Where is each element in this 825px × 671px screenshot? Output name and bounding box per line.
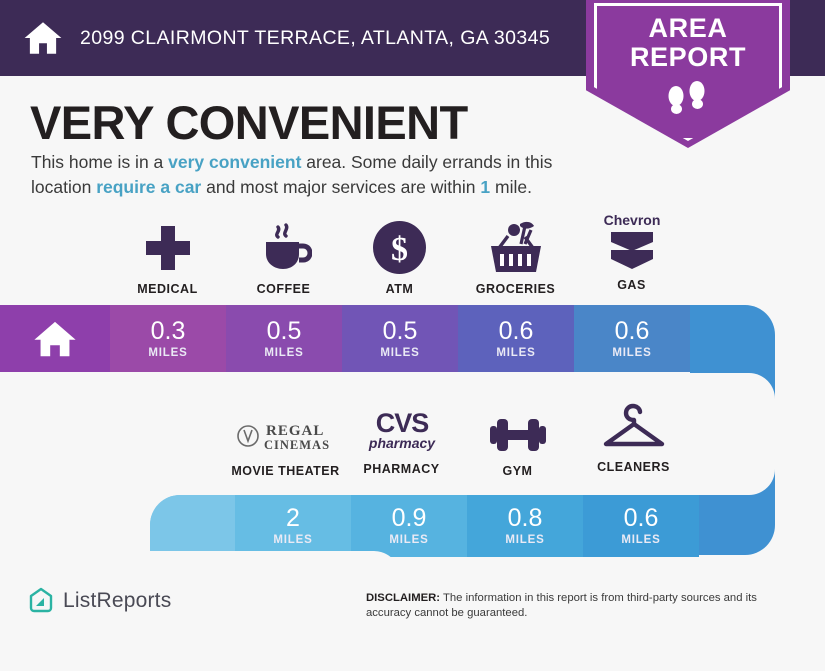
regal-cinemas-logo-icon: REGAL CINEMAS [228, 400, 343, 456]
intro-text-4: mile. [490, 177, 532, 197]
svg-text:CINEMAS: CINEMAS [264, 438, 330, 452]
distance-unit: MILES [621, 534, 660, 546]
infographic-root: 2099 CLAIRMONT TERRACE, ATLANTA, GA 3034… [0, 0, 825, 637]
home-icon [22, 17, 64, 59]
intro-highlight-3: 1 [480, 177, 490, 197]
distance-cell-coffee: 0.5 MILES [226, 305, 342, 372]
area-report-badge: AREA REPORT [586, 0, 790, 148]
distance-value: 0.5 [267, 319, 302, 344]
amenity-label: PHARMACY [344, 462, 459, 476]
amenity-label: GYM [460, 464, 575, 478]
distance-value: 0.8 [508, 506, 543, 531]
amenity-coffee: COFFEE [226, 218, 341, 296]
distance-value: 0.6 [615, 319, 650, 344]
hanger-icon [576, 396, 691, 452]
intro-highlight-1: very convenient [168, 152, 301, 172]
ribbon-left-cap [150, 495, 235, 557]
amenity-label: GAS [574, 278, 689, 292]
home-icon [33, 319, 77, 359]
badge-line-1: AREA [586, 14, 790, 43]
distance-unit: MILES [264, 347, 303, 359]
distance-cell-cleaners: 0.6 MILES [583, 495, 699, 557]
chevron-logo-icon: Chevron [574, 214, 689, 270]
amenity-label: GROCERIES [458, 282, 573, 296]
listreports-brand: ListReports [28, 587, 171, 615]
distance-unit: MILES [505, 534, 544, 546]
intro-highlight-2: require a car [96, 177, 201, 197]
distance-value: 2 [286, 506, 300, 531]
listreports-house-icon [28, 587, 54, 615]
basket-icon [458, 218, 573, 274]
distance-value: 0.6 [499, 319, 534, 344]
amenity-movie-theater: REGAL CINEMAS MOVIE THEATER [228, 400, 343, 478]
distance-cell-atm: 0.5 MILES [342, 305, 458, 372]
distance-unit: MILES [380, 347, 419, 359]
amenity-label: COFFEE [226, 282, 341, 296]
amenity-groceries: GROCERIES [458, 218, 573, 296]
coffee-cup-icon [226, 218, 341, 274]
dollar-circle-icon: $ [342, 218, 457, 274]
intro-text-3: and most major services are within [201, 177, 480, 197]
page-title: VERY CONVENIENT [30, 95, 468, 150]
distance-unit: MILES [273, 534, 312, 546]
amenity-pharmacy: CVS pharmacy PHARMACY [344, 398, 459, 476]
distance-value: 0.6 [624, 506, 659, 531]
distance-unit: MILES [148, 347, 187, 359]
svg-text:Chevron: Chevron [603, 212, 660, 228]
amenity-label: CLEANERS [576, 460, 691, 474]
dumbbell-icon [460, 400, 575, 456]
amenity-label: MEDICAL [110, 282, 225, 296]
distance-value: 0.9 [392, 506, 427, 531]
distance-cell-groceries: 0.6 MILES [458, 305, 574, 372]
intro-text-1: This home is in a [31, 152, 168, 172]
distance-unit: MILES [496, 347, 535, 359]
distance-value: 0.5 [383, 319, 418, 344]
distance-value: 0.3 [151, 319, 186, 344]
ribbon-home-marker [0, 305, 110, 372]
medical-cross-icon [110, 218, 225, 274]
distance-cell-gas: 0.6 MILES [574, 305, 690, 372]
amenity-gas: Chevron GAS [574, 214, 689, 292]
amenity-atm: $ ATM [342, 218, 457, 296]
svg-text:pharmacy: pharmacy [367, 435, 435, 451]
distance-cell-movie-theater: 2 MILES [235, 495, 351, 557]
amenity-medical: MEDICAL [110, 218, 225, 296]
svg-text:$: $ [391, 231, 408, 268]
cvs-pharmacy-logo-icon: CVS pharmacy [344, 398, 459, 454]
amenity-gym: GYM [460, 400, 575, 478]
distance-cell-gym: 0.8 MILES [467, 495, 583, 557]
disclaimer-label: DISCLAIMER: [366, 592, 440, 604]
svg-text:CVS: CVS [375, 408, 428, 438]
amenity-label: ATM [342, 282, 457, 296]
distance-unit: MILES [612, 347, 651, 359]
svg-text:REGAL: REGAL [266, 423, 324, 439]
footprints-icon [661, 80, 715, 122]
property-address: 2099 CLAIRMONT TERRACE, ATLANTA, GA 3034… [80, 27, 550, 50]
distance-cell-medical: 0.3 MILES [110, 305, 226, 372]
distance-unit: MILES [389, 534, 428, 546]
amenity-cleaners: CLEANERS [576, 396, 691, 474]
brand-name: ListReports [63, 589, 171, 613]
badge-line-2: REPORT [586, 43, 790, 72]
distance-cell-pharmacy: 0.9 MILES [351, 495, 467, 557]
intro-paragraph: This home is in a very convenient area. … [31, 150, 591, 200]
disclaimer-text: DISCLAIMER: The information in this repo… [366, 591, 796, 622]
amenity-label: MOVIE THEATER [228, 464, 343, 478]
badge-label: AREA REPORT [586, 14, 790, 72]
